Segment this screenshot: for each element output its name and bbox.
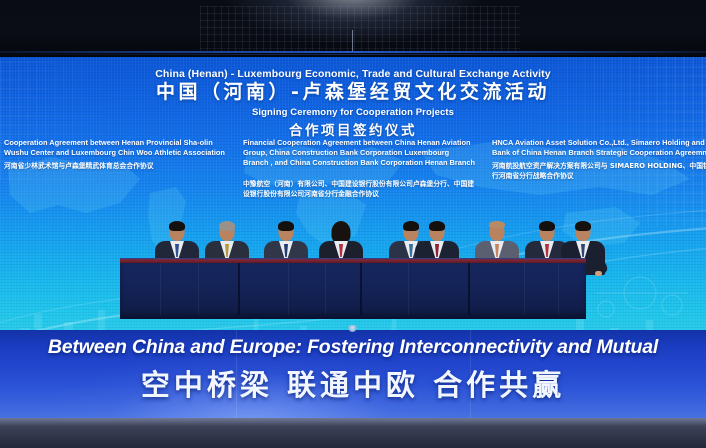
ceiling-truss-grid — [200, 6, 520, 52]
agreement-middle-english: Financial Cooperation Agreement between … — [243, 138, 475, 168]
person-hair — [429, 221, 445, 231]
agreement-left-chinese: 河南省少林武术馆与卢森堡精武体育总会合作协议 — [4, 162, 226, 172]
person-hair — [332, 221, 351, 243]
banner-english-text: Between China and Europe: Fostering Inte… — [0, 336, 706, 359]
person-hair — [539, 221, 555, 231]
agreement-left-english: Cooperation Agreement between Henan Prov… — [4, 138, 226, 158]
stage-truss-light-bar — [0, 51, 706, 53]
agreement-column-middle: Financial Cooperation Agreement between … — [243, 138, 475, 199]
signing-table-skirt — [120, 263, 586, 317]
title-chinese-line2: 合作项目签约仪式 — [0, 119, 706, 139]
stage-truss-shadow-line — [0, 54, 706, 55]
ceiling-dark-area — [0, 0, 706, 57]
agreement-right-english: HNCA Aviation Asset Solution Co.,Ltd., S… — [492, 138, 706, 158]
person-hand-right — [595, 271, 602, 276]
table-microphone — [348, 325, 357, 332]
conference-photo-stage: China (Henan) - Luxembourg Economic, Tra… — [0, 0, 706, 448]
agreement-right-chinese: 河南航投航空资产解决方案有限公司与 SIMAERO HOLDING、中国银行河南… — [492, 162, 706, 181]
title-english-line1: China (Henan) - Luxembourg Economic, Tra… — [0, 68, 706, 80]
title-chinese-line1: 中国（河南）-卢森堡经贸文化交流活动 — [0, 82, 706, 104]
stage-floor-sheen — [0, 418, 706, 426]
title-english-line2: Signing Ceremony for Cooperation Project… — [0, 107, 706, 118]
spotlight-pole — [352, 30, 353, 52]
person-hair — [575, 221, 591, 231]
screen-title-block: China (Henan) - Luxembourg Economic, Tra… — [0, 68, 706, 139]
person-hair — [489, 221, 505, 228]
banner-chinese-text: 空中桥梁 联通中欧 合作共赢 — [0, 362, 706, 404]
person-hair — [219, 221, 235, 231]
agreement-middle-chinese: 中豫航空（河南）有限公司、中国建设银行股份有限公司卢森堡分行、中国建设银行股份有… — [243, 180, 475, 199]
agreement-column-left: Cooperation Agreement between Henan Prov… — [4, 138, 226, 172]
signing-table-base-shadow — [120, 315, 586, 319]
agreement-column-right: HNCA Aviation Asset Solution Co.,Ltd., S… — [492, 138, 706, 181]
person-hair — [278, 221, 294, 231]
person-hair — [169, 221, 185, 231]
